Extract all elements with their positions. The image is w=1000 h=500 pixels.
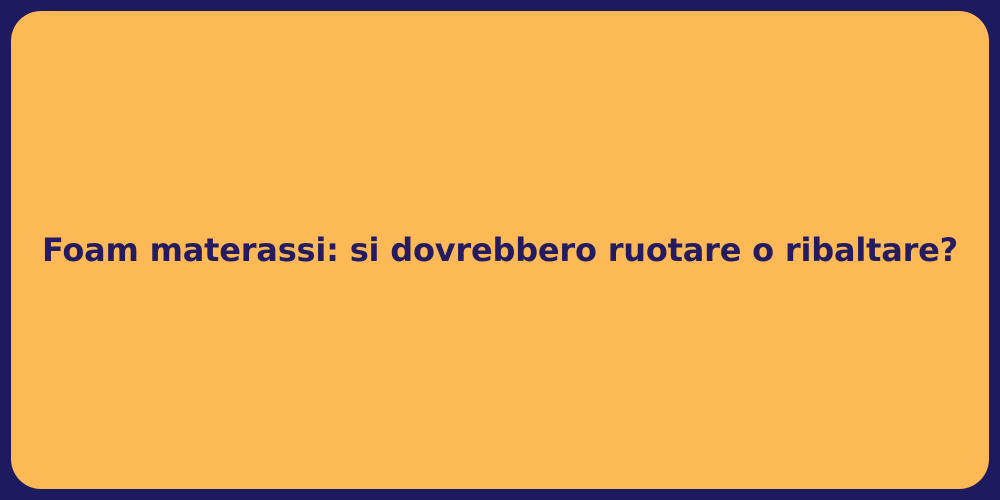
page-title: Foam materassi: si dovrebbero ruotare o … xyxy=(2,230,998,270)
page-background: Foam materassi: si dovrebbero ruotare o … xyxy=(0,0,1000,500)
content-card: Foam materassi: si dovrebbero ruotare o … xyxy=(11,11,989,489)
